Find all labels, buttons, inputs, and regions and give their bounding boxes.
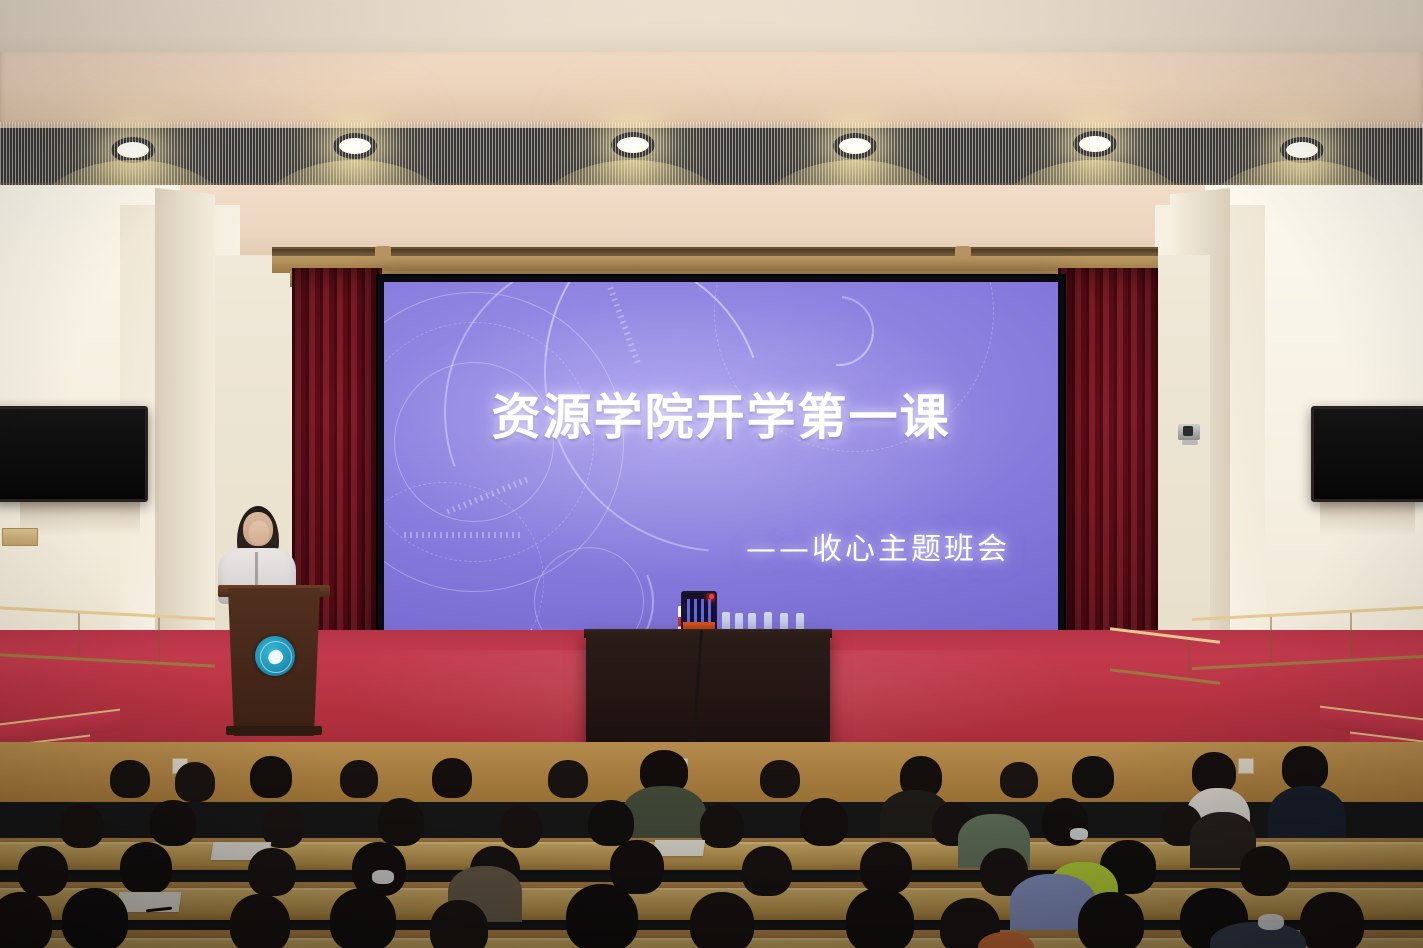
audience-head xyxy=(1282,746,1328,790)
audience-head xyxy=(340,760,378,798)
av-equipment-unit xyxy=(681,591,717,633)
tv-wall-shadow xyxy=(1320,502,1415,536)
audience-head xyxy=(500,806,542,848)
audience-head xyxy=(120,842,172,894)
seated-student-audience xyxy=(0,742,1423,948)
auditorium-scene: 资源学院开学第一课 ——收心主题班会 xyxy=(0,0,1423,948)
slide-title: 资源学院开学第一课 xyxy=(384,378,1058,449)
device-power-led xyxy=(709,594,714,599)
ceiling-downlight xyxy=(1280,137,1324,163)
audience-head xyxy=(432,758,472,798)
projection-screen: 资源学院开学第一课 ——收心主题班会 xyxy=(384,282,1058,648)
wall-service-plate xyxy=(2,528,38,546)
audience-head xyxy=(150,800,196,846)
audience-head xyxy=(1072,756,1114,798)
audience-head xyxy=(378,798,424,846)
audience-head xyxy=(60,804,104,848)
ceiling-downlight xyxy=(111,137,155,163)
audience-head xyxy=(248,848,296,896)
stage-curtain-right xyxy=(1058,268,1158,683)
audience-head xyxy=(230,894,290,948)
audience-head xyxy=(548,760,588,798)
audience-head xyxy=(610,840,664,894)
face-mask xyxy=(372,870,394,884)
ceiling-soffit xyxy=(0,122,1423,188)
audience-head xyxy=(760,760,800,798)
audience-head xyxy=(700,804,744,848)
wall-outlet xyxy=(1238,758,1254,774)
projection-screen-frame: 资源学院开学第一课 ——收心主题班会 xyxy=(378,276,1064,654)
device-indicator-bars xyxy=(687,599,715,623)
ceiling-upper-slab xyxy=(0,0,1423,58)
audience-head xyxy=(742,846,792,896)
audience-head xyxy=(62,888,128,948)
audience-head xyxy=(330,888,396,948)
ceiling-beam xyxy=(0,52,1423,128)
wall-mounted-display-left xyxy=(0,406,148,502)
audience-head xyxy=(1078,892,1144,948)
audience-head xyxy=(690,892,754,948)
audience-head xyxy=(18,846,68,896)
presenter-face xyxy=(249,521,269,545)
audience-head xyxy=(588,800,634,846)
university-emblem-icon xyxy=(255,636,295,676)
audience-head xyxy=(175,762,215,802)
camera-mount-arm xyxy=(1182,440,1198,445)
rail-bracket xyxy=(955,246,971,259)
audience-head xyxy=(110,760,150,798)
audience-head xyxy=(430,900,488,948)
ceiling-downlight xyxy=(833,133,877,159)
tv-wall-shadow xyxy=(20,502,140,536)
wall-mounted-display-right xyxy=(1311,406,1423,502)
audience-head xyxy=(860,842,912,894)
audience-body xyxy=(622,786,706,844)
ceiling-downlight xyxy=(1073,131,1117,157)
curtain-rail xyxy=(272,249,1158,256)
wall-mounted-camera xyxy=(1178,424,1200,440)
audience-head xyxy=(846,888,914,948)
ceiling-downlight xyxy=(611,132,655,158)
audience-head xyxy=(566,884,638,948)
slide-decoration-ticks xyxy=(404,532,524,538)
audience-head xyxy=(800,798,848,846)
face-mask xyxy=(1258,914,1284,930)
audience-head xyxy=(250,756,292,798)
podium-base xyxy=(226,726,322,735)
ceiling-downlight xyxy=(333,133,377,159)
stage-conference-table xyxy=(586,632,830,742)
slide-subtitle: ——收心主题班会 xyxy=(746,524,1010,568)
rail-bracket xyxy=(375,246,391,259)
audience-head xyxy=(1240,846,1290,896)
face-mask xyxy=(1070,828,1088,840)
audience-head xyxy=(1000,762,1038,798)
audience-head xyxy=(1300,892,1364,948)
